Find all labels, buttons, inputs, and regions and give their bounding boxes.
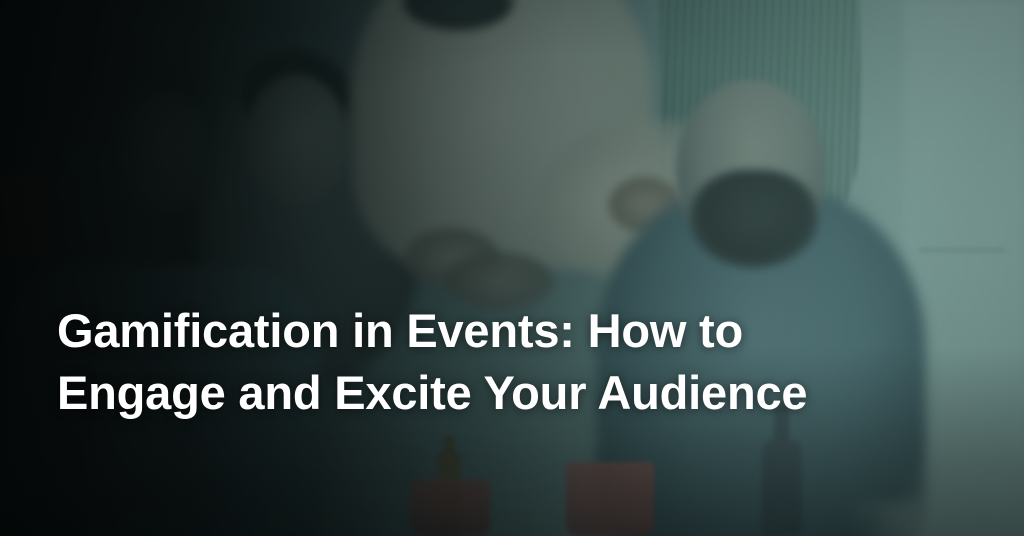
- page-title: Gamification in Events: How to Engage an…: [57, 300, 897, 424]
- vignette-overlay: [0, 0, 1024, 536]
- hero-banner: Gamification in Events: How to Engage an…: [0, 0, 1024, 536]
- headline-block: Gamification in Events: How to Engage an…: [57, 300, 897, 424]
